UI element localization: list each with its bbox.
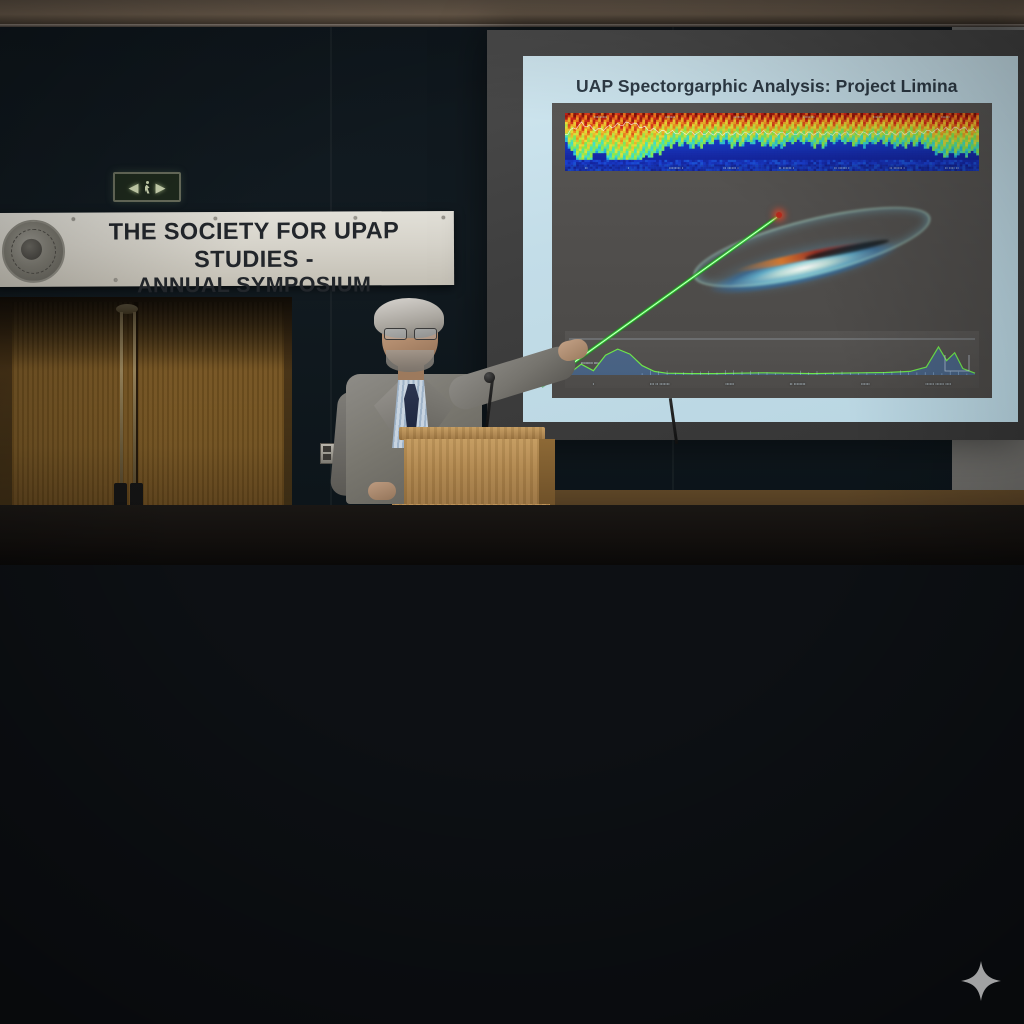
exit-left-arrow-icon: ◀ — [129, 181, 139, 194]
lower-trace-tick-label: •••••• — [725, 382, 734, 386]
lower-trace-canvas — [565, 331, 979, 379]
lower-trace-annotation: •••••••••• •••• — [581, 361, 599, 365]
laser-dot — [776, 212, 782, 218]
spectrogram-bottom-axis: ••••••••••• ••• •••••• ••• •••••• ••• ••… — [565, 163, 979, 171]
spectrogram-tick-label: ••••••••• — [594, 115, 607, 119]
lower-trace-tick-label: • — [593, 382, 594, 386]
presenter-hand — [368, 482, 396, 500]
lower-trace-tick-label: •••••• — [861, 382, 870, 386]
society-seal-icon — [2, 220, 65, 283]
ceiling — [0, 0, 1024, 26]
spectrogram-tick-label: •••••••• — [803, 115, 815, 119]
exit-sign: ◀ ▶ — [113, 172, 181, 202]
spectrogram-tick-label: ••••••• — [665, 115, 675, 119]
podium — [404, 439, 539, 505]
exit-right-arrow-icon: ▶ — [156, 181, 166, 194]
spectrogram-top-axis: ••••••••••••••••••••••••••••••••••••••••… — [565, 113, 979, 121]
spectrogram-tick-label: ••••••• — [873, 115, 883, 119]
banner-line-1: THE SOCIETY FOR UPAP STUDIES - — [68, 217, 440, 274]
audience-seating — [0, 500, 1024, 1024]
microphone-head-icon — [484, 372, 495, 383]
spectrogram-tick-label: •••••••• • — [669, 166, 683, 170]
spectrogram-tick-label: •• •••••• • — [890, 166, 906, 170]
spectrogram-tick-label: •••••• — [941, 115, 950, 119]
spectrogram-tick-label: •• •••••• • — [834, 166, 850, 170]
lecture-hall-scene: ◀ ▶ THE SOCIETY FOR UPAP STUDIES - ANNUA… — [0, 0, 1024, 1024]
presenter-beard — [386, 350, 434, 372]
lower-trace-chart: •••••••••• •••• •••• •• ••••••••••••••• … — [565, 331, 979, 388]
banner-text-block: THE SOCIETY FOR UPAP STUDIES - ANNUAL SY… — [68, 217, 440, 299]
lower-trace-tick-label: •••••• •••••• •••• — [925, 382, 951, 386]
uap-object — [672, 213, 942, 323]
lower-trace-tick-label: •• •••••••• — [790, 382, 806, 386]
slide-title: UAP Spectorgarphic Analysis: Project Lim… — [576, 76, 958, 97]
podium-side — [539, 439, 555, 505]
spectrogram-tick-label: •••••••• — [733, 115, 745, 119]
spectrogram-tick-label: • — [628, 166, 629, 170]
lower-trace-axis: •••• •• ••••••••••••••• ••••••••••••••••… — [565, 379, 979, 388]
spectrogram-tick-label: •• — [585, 166, 588, 170]
spectrogram-tick-label: •• •••• •• — [945, 166, 959, 170]
glasses-icon — [384, 328, 440, 338]
sparkle-watermark — [960, 960, 1002, 1002]
slide-content-panel: ••••••••••••••••••••••••••••••••••••••••… — [552, 103, 992, 398]
symposium-banner: THE SOCIETY FOR UPAP STUDIES - ANNUAL SY… — [0, 211, 454, 287]
running-man-icon — [144, 181, 151, 194]
spectrogram-tick-label: •• •••••• • — [723, 166, 739, 170]
presentation-slide: UAP Spectorgarphic Analysis: Project Lim… — [523, 56, 1018, 422]
lower-trace-tick-label: ••• •• ••••••• — [650, 382, 670, 386]
spectrogram-chart: ••••••••••••••••••••••••••••••••••••••••… — [565, 113, 979, 171]
spectrogram-tick-label: •• •••••• • — [779, 166, 795, 170]
